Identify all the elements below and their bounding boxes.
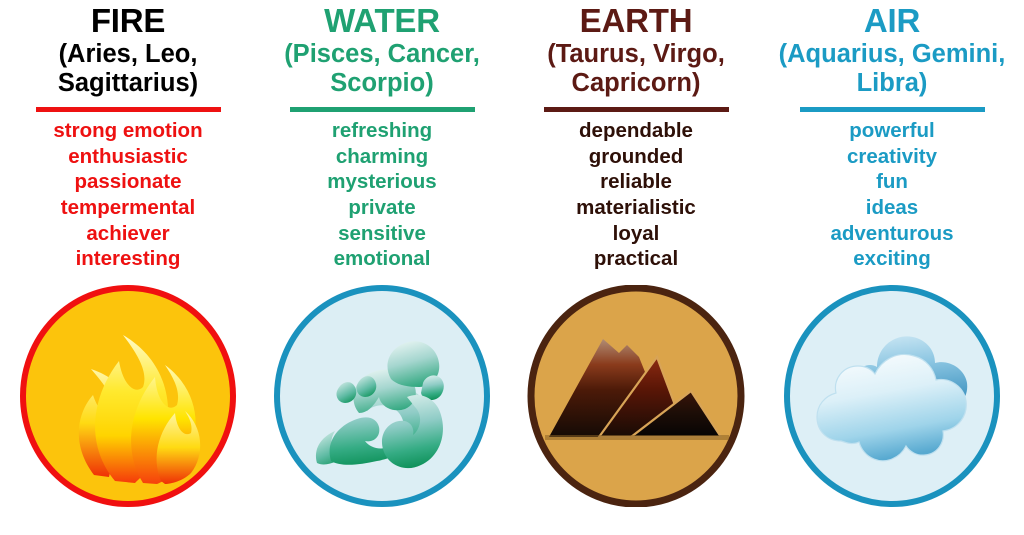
trait-item: passionate [53,169,202,195]
trait-list-air: powerful creativity fun ideas adventurou… [830,118,953,272]
trait-item: creativity [830,144,953,170]
mountain-icon [527,285,745,507]
divider-rule-fire [36,107,221,112]
flame-icon [19,285,237,507]
trait-item: materialistic [576,195,696,221]
trait-list-earth: dependable grounded reliable materialist… [576,118,696,272]
element-column-earth: EARTH (Taurus, Virgo, Capricorn) dependa… [510,4,762,508]
trait-item: mysterious [327,169,436,195]
element-signs-air: (Aquarius, Gemini, Libra) [767,40,1017,99]
trait-item: practical [576,246,696,272]
emblem-air [782,284,1002,508]
trait-item: interesting [53,246,202,272]
trait-item: adventurous [830,221,953,247]
element-column-fire: FIRE (Aries, Leo, Sagittarius) strong em… [2,4,254,508]
emblem-earth [526,284,746,508]
trait-item: grounded [576,144,696,170]
divider-rule-air [800,107,985,112]
trait-item: refreshing [327,118,436,144]
trait-list-fire: strong emotion enthusiastic passionate t… [53,118,202,272]
element-title-earth: EARTH [580,4,693,38]
cloud-icon [783,285,1001,507]
trait-item: exciting [830,246,953,272]
trait-item: dependable [576,118,696,144]
trait-item: emotional [327,246,436,272]
trait-item: charming [327,144,436,170]
emblem-water [272,284,492,508]
trait-item: strong emotion [53,118,202,144]
trait-item: loyal [576,221,696,247]
water-wave-icon [273,285,491,507]
element-signs-water: (Pisces, Cancer, Scorpio) [257,40,507,99]
trait-item: powerful [830,118,953,144]
zodiac-elements-infographic: FIRE (Aries, Leo, Sagittarius) strong em… [0,0,1024,535]
trait-item: sensitive [327,221,436,247]
trait-item: fun [830,169,953,195]
element-signs-earth: (Taurus, Virgo, Capricorn) [511,40,761,99]
trait-item: enthusiastic [53,144,202,170]
trait-item: reliable [576,169,696,195]
element-signs-fire: (Aries, Leo, Sagittarius) [3,40,253,99]
trait-list-water: refreshing charming mysterious private s… [327,118,436,272]
trait-item: tempermental [53,195,202,221]
element-title-fire: FIRE [91,4,165,38]
element-title-water: WATER [324,4,440,38]
trait-item: ideas [830,195,953,221]
element-column-air: AIR (Aquarius, Gemini, Libra) powerful c… [766,4,1018,508]
divider-rule-earth [544,107,729,112]
emblem-fire [18,284,238,508]
trait-item: achiever [53,221,202,247]
trait-item: private [327,195,436,221]
divider-rule-water [290,107,475,112]
element-title-air: AIR [864,4,920,38]
element-column-water: WATER (Pisces, Cancer, Scorpio) refreshi… [256,4,508,508]
